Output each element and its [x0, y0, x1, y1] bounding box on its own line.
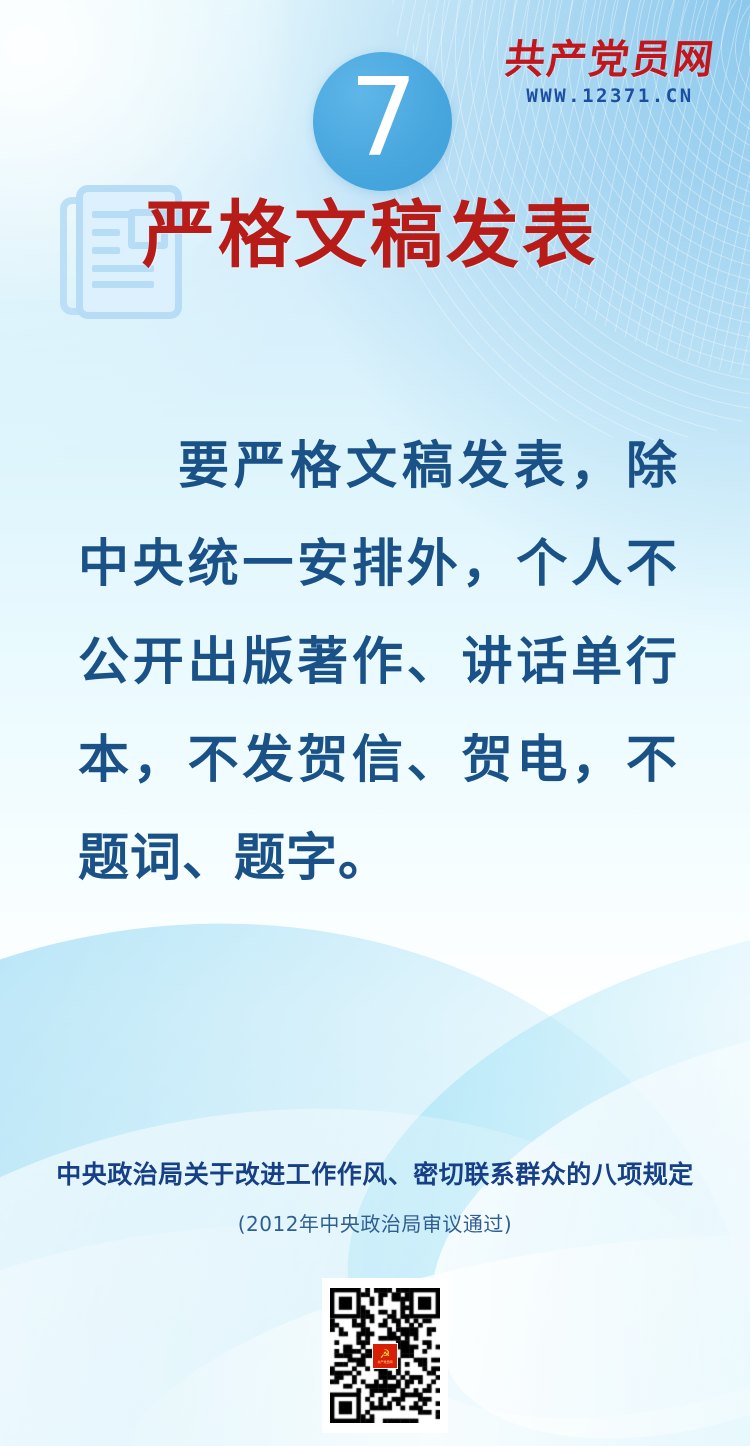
document-line-2 [92, 229, 120, 236]
document-line-5 [92, 281, 154, 288]
footer-title: 中央政治局关于改进工作作风、密切联系群众的八项规定 [0, 1155, 750, 1191]
qr-code-block[interactable]: ☭ 共产党员网 [322, 1278, 448, 1433]
footer-subtitle: (2012年中央政治局审议通过) [0, 1208, 750, 1237]
body-paragraph: 要严格文稿发表，除中央统一安排外，个人不公开出版著作、讲话单行本，不发贺信、贺电… [78, 418, 678, 908]
party-emblem-icon: ☭ 共产党员网 [372, 1343, 398, 1369]
poster-root: 7 共产党员网 WWW.12371.CN 严格文稿发表 要严格文稿发表，除中央统… [0, 0, 750, 1446]
number-badge: 7 [313, 52, 452, 191]
number-badge-label: 7 [349, 65, 416, 173]
site-logo[interactable]: 共产党员网 WWW.12371.CN [500, 38, 720, 107]
qr-code-icon[interactable]: ☭ 共产党员网 [330, 1288, 440, 1423]
page-title: 严格文稿发表 [142, 198, 598, 274]
emblem-caption: 共产党员网 [377, 1360, 392, 1364]
hammer-sickle-glyph: ☭ [380, 1348, 391, 1360]
document-line-3 [92, 247, 120, 254]
logo-url: WWW.12371.CN [500, 85, 720, 107]
logo-brand-name: 共产党员网 [497, 38, 722, 82]
